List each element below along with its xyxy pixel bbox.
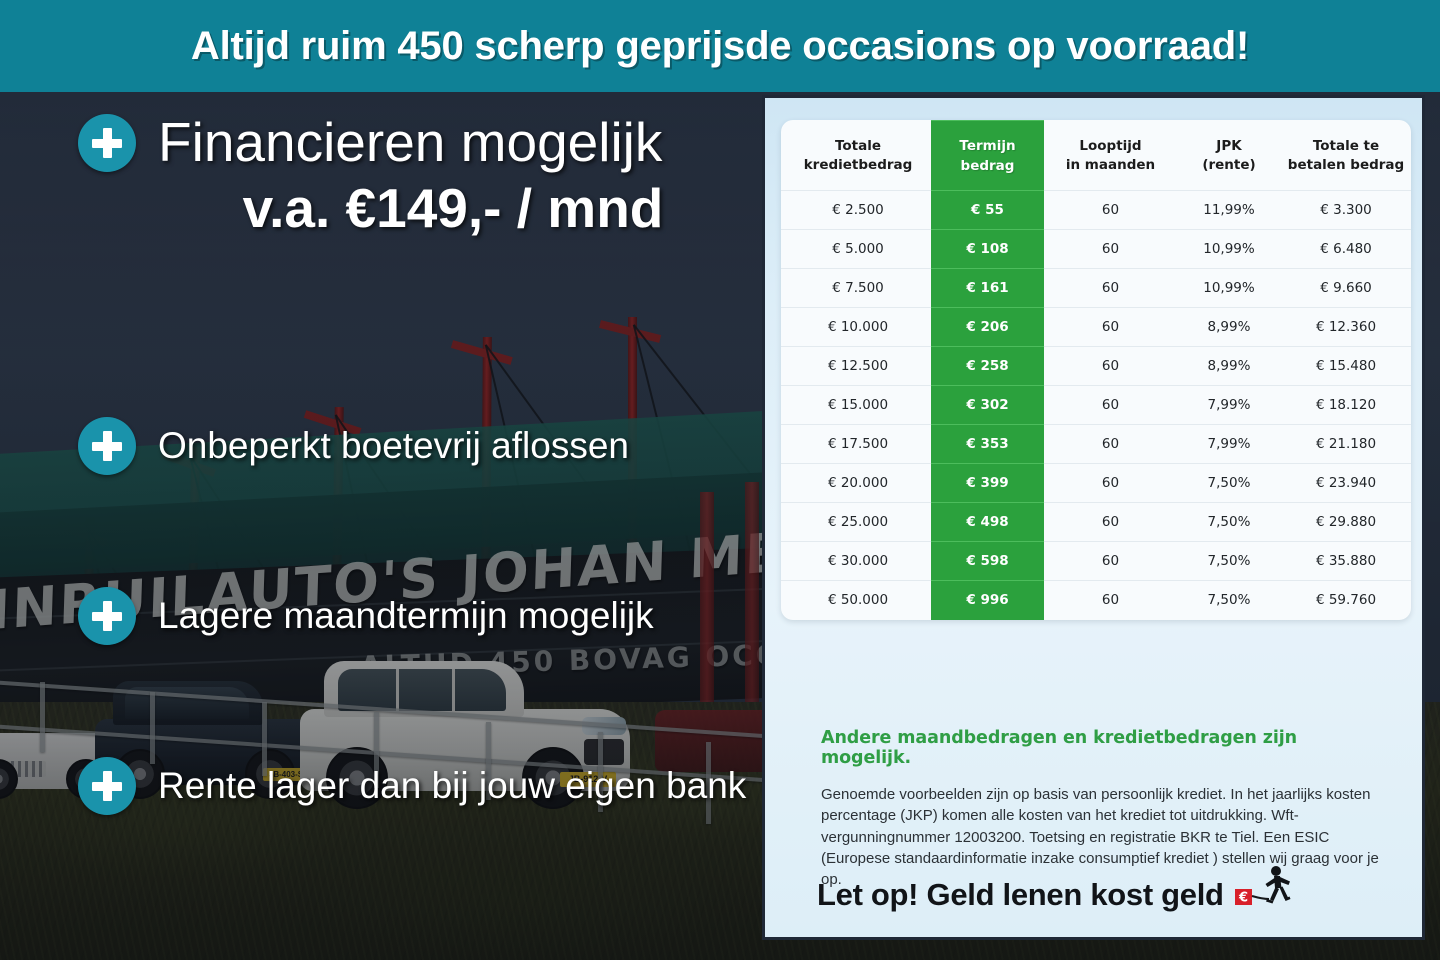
table-cell: 60 [1044, 542, 1177, 581]
table-header-line: betalen bedrag [1283, 156, 1409, 176]
table-cell: € 55 [931, 191, 1044, 230]
table-cell: 10,99% [1177, 230, 1281, 269]
headline-line-2: v.a. €149,- / mnd [78, 176, 758, 240]
table-row: € 20.000€ 399607,50%€ 23.940 [781, 464, 1411, 503]
table-cell: € 7.500 [781, 269, 931, 308]
table-cell: € 12.500 [781, 347, 931, 386]
table-cell: € 206 [931, 308, 1044, 347]
financing-panel: TotalekredietbedragTermijnbedragLooptijd… [762, 95, 1425, 940]
table-cell: € 399 [931, 464, 1044, 503]
left-content: Financieren mogelijk v.a. €149,- / mnd O… [0, 92, 765, 960]
table-cell: € 353 [931, 425, 1044, 464]
table-cell: € 20.000 [781, 464, 931, 503]
table-header-line: (rente) [1179, 156, 1279, 176]
table-cell: € 29.880 [1281, 503, 1411, 542]
table-cell: 60 [1044, 464, 1177, 503]
table-cell: 8,99% [1177, 308, 1281, 347]
table-cell: € 6.480 [1281, 230, 1411, 269]
table-header-line: kredietbedrag [787, 156, 929, 176]
table-cell: € 108 [931, 230, 1044, 269]
table-cell: € 15.000 [781, 386, 931, 425]
table-cell: € 996 [931, 581, 1044, 620]
plus-icon [78, 757, 136, 815]
disclaimer-lead: Andere maandbedragen en kredietbedragen … [821, 728, 1381, 768]
feature-bullet-3-label: Rente lager dan bij jouw eigen bank [158, 765, 746, 807]
table-cell: € 2.500 [781, 191, 931, 230]
table-row: € 50.000€ 996607,50%€ 59.760 [781, 581, 1411, 620]
plus-icon [78, 417, 136, 475]
credit-warning-row: Let op! Geld lenen kost geld € [817, 865, 1296, 913]
table-cell: 60 [1044, 425, 1177, 464]
rate-table-head: TotalekredietbedragTermijnbedragLooptijd… [781, 121, 1411, 191]
table-cell: € 498 [931, 503, 1044, 542]
table-header-line: Totale [787, 137, 929, 157]
feature-bullet-1: Onbeperkt boetevrij aflossen [78, 417, 629, 475]
table-header-line: Termijn [933, 137, 1042, 157]
table-cell: € 59.760 [1281, 581, 1411, 620]
table-cell: 7,50% [1177, 503, 1281, 542]
table-row: € 7.500€ 1616010,99%€ 9.660 [781, 269, 1411, 308]
table-cell: € 10.000 [781, 308, 931, 347]
table-row: € 2.500€ 556011,99%€ 3.300 [781, 191, 1411, 230]
table-header-line: in maanden [1046, 156, 1175, 176]
table-cell: 7,50% [1177, 581, 1281, 620]
rate-table-card: TotalekredietbedragTermijnbedragLooptijd… [781, 120, 1411, 620]
table-header-line: JPK [1179, 137, 1279, 157]
table-cell: 60 [1044, 308, 1177, 347]
table-cell: € 9.660 [1281, 269, 1411, 308]
plus-icon [78, 587, 136, 645]
headline-line-1: Financieren mogelijk [158, 114, 662, 172]
table-cell: 7,99% [1177, 425, 1281, 464]
table-header-line: Looptijd [1046, 137, 1175, 157]
table-cell: € 5.000 [781, 230, 931, 269]
table-cell: € 25.000 [781, 503, 931, 542]
table-cell: 7,50% [1177, 542, 1281, 581]
credit-warning-text: Let op! Geld lenen kost geld [817, 877, 1224, 913]
svg-text:€: € [1238, 891, 1248, 906]
feature-bullet-2-label: Lagere maandtermijn mogelijk [158, 595, 654, 637]
table-header-row: TotalekredietbedragTermijnbedragLooptijd… [781, 121, 1411, 191]
table-cell: € 258 [931, 347, 1044, 386]
table-cell: 10,99% [1177, 269, 1281, 308]
table-cell: 60 [1044, 191, 1177, 230]
table-header-line: bedrag [933, 157, 1042, 177]
table-row: € 17.500€ 353607,99%€ 21.180 [781, 425, 1411, 464]
table-cell: € 23.940 [1281, 464, 1411, 503]
table-cell: 60 [1044, 269, 1177, 308]
table-cell: 11,99% [1177, 191, 1281, 230]
table-cell: € 302 [931, 386, 1044, 425]
feature-bullet-2: Lagere maandtermijn mogelijk [78, 587, 654, 645]
table-cell: 7,50% [1177, 464, 1281, 503]
table-cell: 60 [1044, 230, 1177, 269]
rate-table: TotalekredietbedragTermijnbedragLooptijd… [781, 120, 1411, 620]
table-cell: € 15.480 [1281, 347, 1411, 386]
table-header-cell: Termijnbedrag [931, 121, 1044, 191]
top-banner: Altijd ruim 450 scherp geprijsde occasio… [0, 0, 1440, 92]
table-cell: € 21.180 [1281, 425, 1411, 464]
table-cell: € 3.300 [1281, 191, 1411, 230]
feature-bullet-1-label: Onbeperkt boetevrij aflossen [158, 425, 629, 467]
table-header-cell: Totalekredietbedrag [781, 121, 931, 191]
table-header-cell: JPK(rente) [1177, 121, 1281, 191]
table-cell: 60 [1044, 581, 1177, 620]
table-cell: € 598 [931, 542, 1044, 581]
table-row: € 12.500€ 258608,99%€ 15.480 [781, 347, 1411, 386]
table-header-line: Totale te [1283, 137, 1409, 157]
headline-block: Financieren mogelijk v.a. €149,- / mnd [78, 114, 758, 240]
feature-bullet-3: Rente lager dan bij jouw eigen bank [78, 757, 746, 815]
banner-headline: Altijd ruim 450 scherp geprijsde occasio… [191, 24, 1249, 69]
table-cell: € 12.360 [1281, 308, 1411, 347]
rate-table-body: € 2.500€ 556011,99%€ 3.300€ 5.000€ 10860… [781, 191, 1411, 620]
table-row: € 30.000€ 598607,50%€ 35.880 [781, 542, 1411, 581]
table-cell: € 35.880 [1281, 542, 1411, 581]
plus-icon [78, 114, 136, 172]
table-row: € 25.000€ 498607,50%€ 29.880 [781, 503, 1411, 542]
table-header-cell: Looptijdin maanden [1044, 121, 1177, 191]
table-cell: 60 [1044, 347, 1177, 386]
table-cell: € 17.500 [781, 425, 931, 464]
advertisement-banner: Altijd ruim 450 scherp geprijsde occasio… [0, 0, 1440, 960]
table-cell: 8,99% [1177, 347, 1281, 386]
afm-walking-figure-icon: € [1234, 865, 1296, 911]
table-cell: € 50.000 [781, 581, 931, 620]
table-header-cell: Totale tebetalen bedrag [1281, 121, 1411, 191]
table-cell: € 18.120 [1281, 386, 1411, 425]
table-row: € 5.000€ 1086010,99%€ 6.480 [781, 230, 1411, 269]
table-cell: 60 [1044, 386, 1177, 425]
table-cell: € 30.000 [781, 542, 931, 581]
table-cell: 7,99% [1177, 386, 1281, 425]
table-cell: 60 [1044, 503, 1177, 542]
table-cell: € 161 [931, 269, 1044, 308]
table-row: € 15.000€ 302607,99%€ 18.120 [781, 386, 1411, 425]
table-row: € 10.000€ 206608,99%€ 12.360 [781, 308, 1411, 347]
